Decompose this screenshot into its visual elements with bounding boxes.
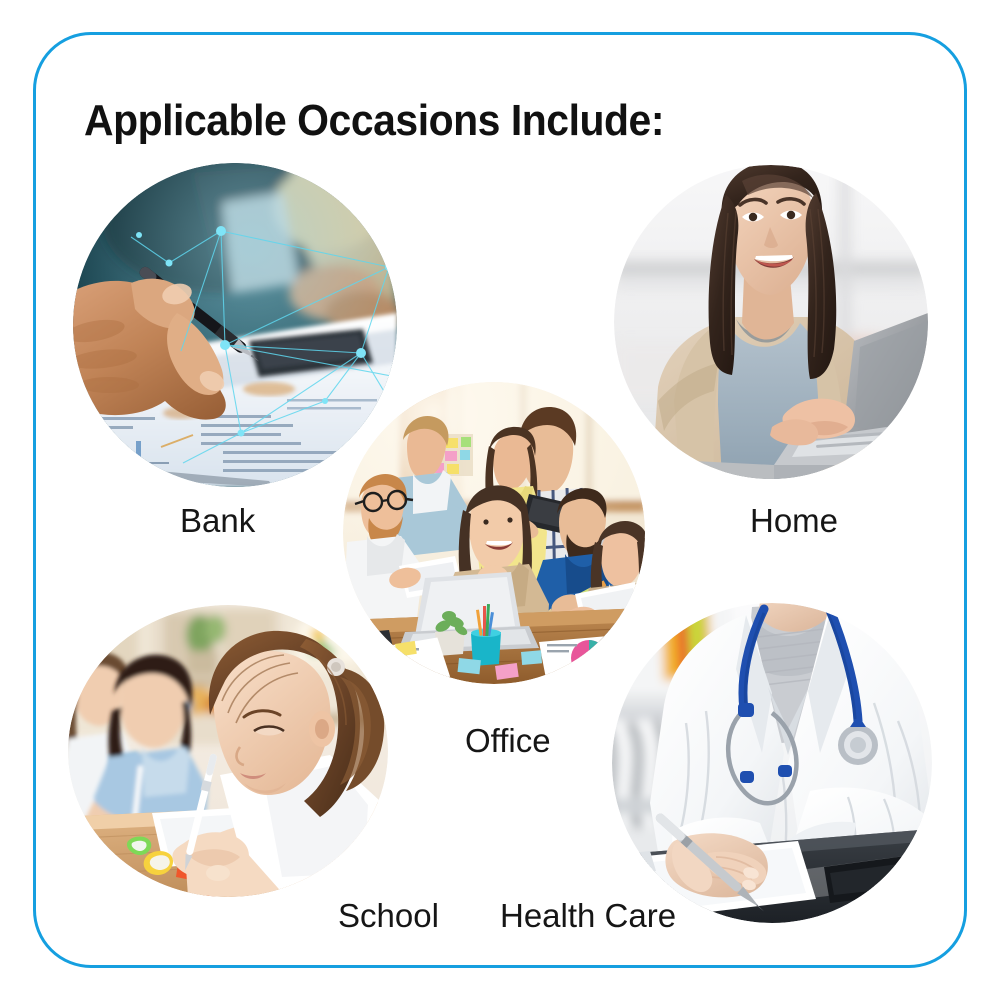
caption-school: School [338,897,439,935]
caption-bank: Bank [180,502,255,540]
bank-photo [73,163,397,487]
office-photo [343,382,645,684]
page-title: Applicable Occasions Include: [84,96,664,146]
caption-home: Home [750,502,838,540]
school-photo [68,605,388,897]
poster-canvas: Applicable Occasions Include: [0,0,1000,1000]
healthcare-photo [612,603,932,923]
home-photo [614,165,928,479]
caption-office: Office [465,722,551,760]
caption-healthcare: Health Care [500,897,676,935]
